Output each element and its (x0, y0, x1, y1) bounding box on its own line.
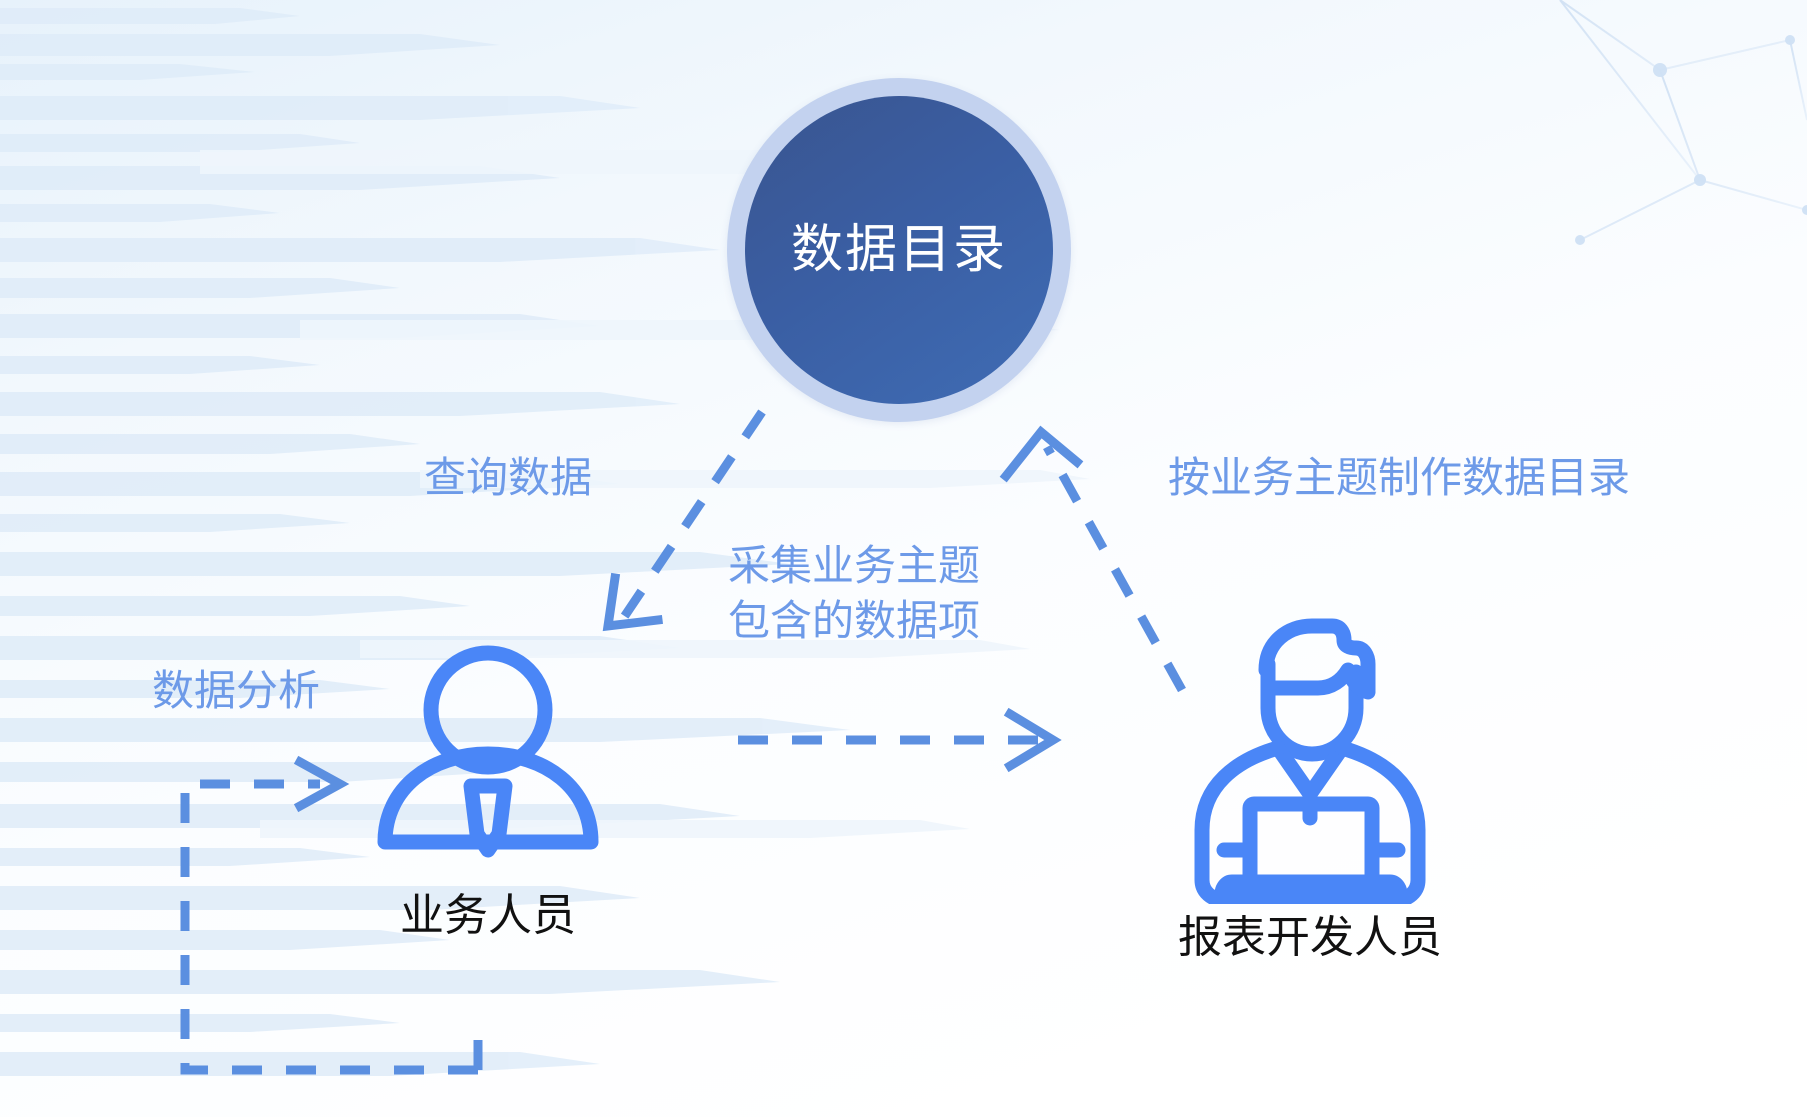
developer-laptop-icon (1180, 608, 1440, 904)
edge-label-build-catalog: 按业务主题制作数据目录 (1168, 450, 1630, 505)
actor-business-person[interactable]: 业务人员 (338, 638, 638, 938)
edge-label-collect-data-items: 采集业务主题 包含的数据项 (728, 538, 980, 649)
data-catalog-label: 数据目录 (791, 224, 1007, 276)
data-catalog-circle: 数据目录 (745, 96, 1053, 404)
arrowhead-publish (1006, 432, 1077, 476)
actor-report-developer-label: 报表开发人员 (1178, 916, 1442, 960)
edge-label-collect-line2: 包含的数据项 (728, 593, 980, 648)
actor-report-developer[interactable]: 报表开发人员 (1150, 608, 1470, 960)
edge-label-query-data: 查询数据 (424, 450, 592, 505)
data-catalog-node[interactable]: 数据目录 (727, 78, 1071, 422)
business-person-icon (365, 638, 611, 884)
diagram-canvas: 数据目录 查询数据 按业务主题制作数据目录 采集业务主题 包含的数据项 数据分析… (0, 0, 1807, 1117)
edge-label-collect-line1: 采集业务主题 (728, 538, 980, 593)
edge-label-data-analysis: 数据分析 (152, 663, 320, 718)
actor-business-person-label: 业务人员 (400, 894, 576, 938)
